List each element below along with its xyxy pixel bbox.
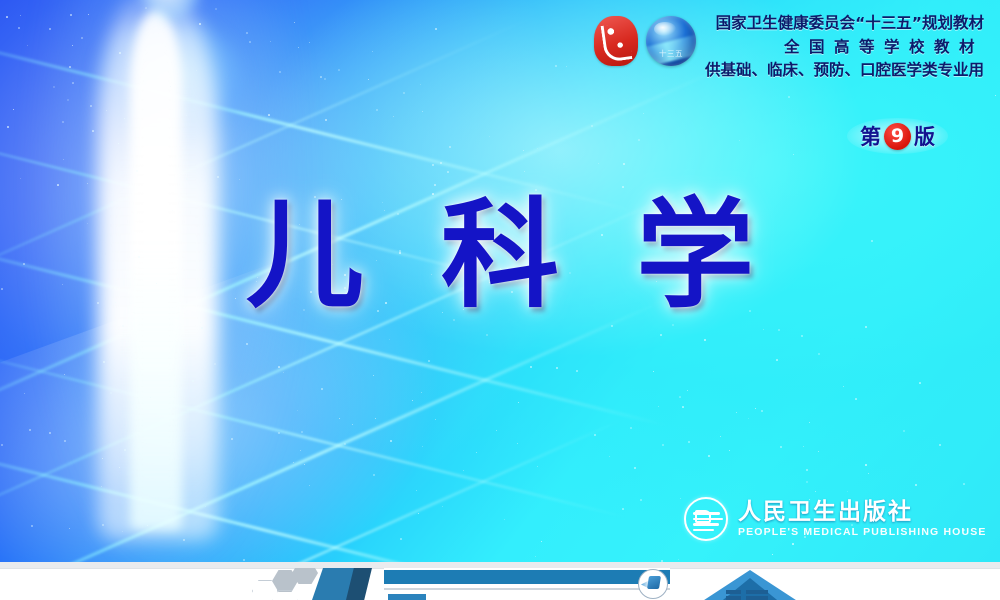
next-slide-preview[interactable] xyxy=(0,568,1000,600)
panel-tab xyxy=(388,594,426,600)
header-line-3: 供基础、临床、预防、口腔医学类专业用 xyxy=(705,59,984,83)
publisher-name-en: PEOPLE'S MEDICAL PUBLISHING HOUSE xyxy=(738,526,987,538)
red-seal-logo-icon xyxy=(594,16,638,66)
triangle-logo-icon xyxy=(690,568,810,600)
header-line-2: 全国高等学校教材 xyxy=(705,36,984,60)
edition-number: 9 xyxy=(884,123,911,150)
edition-suffix: 版 xyxy=(914,121,935,151)
panel-title-bar xyxy=(384,570,670,584)
content-panel xyxy=(384,568,670,600)
publisher-text: 人民卫生出版社 PEOPLE'S MEDICAL PUBLISHING HOUS… xyxy=(738,500,987,539)
textbook-header-block: 十三五 国家卫生健康委员会“十三五”规划教材 全国高等学校教材 供基础、临床、预… xyxy=(594,12,984,83)
presentation-viewport: 十三五 国家卫生健康委员会“十三五”规划教材 全国高等学校教材 供基础、临床、预… xyxy=(0,0,1000,600)
header-line-1: 国家卫生健康委员会“十三五”规划教材 xyxy=(705,12,984,36)
panel-rule xyxy=(384,588,670,590)
pmph-book-logo-icon xyxy=(684,497,728,541)
publisher-name-cn: 人民卫生出版社 xyxy=(738,500,987,526)
blue-globe-logo-icon: 十三五 xyxy=(646,16,696,66)
header-logos: 十三五 xyxy=(594,12,696,66)
page-title: 儿 科 学 xyxy=(0,196,1000,314)
textbook-cover-slide[interactable]: 十三五 国家卫生健康委员会“十三五”规划教材 全国高等学校教材 供基础、临床、预… xyxy=(0,0,1000,562)
edition-prefix: 第 xyxy=(860,121,881,151)
digital-seal-icon xyxy=(638,569,668,599)
header-text-lines: 国家卫生健康委员会“十三五”规划教材 全国高等学校教材 供基础、临床、预防、口腔… xyxy=(705,12,984,83)
publisher-block: 人民卫生出版社 PEOPLE'S MEDICAL PUBLISHING HOUS… xyxy=(684,496,1000,542)
edition-badge: 第 9 版 xyxy=(847,118,948,154)
globe-mark-label: 十三五 xyxy=(646,48,696,59)
